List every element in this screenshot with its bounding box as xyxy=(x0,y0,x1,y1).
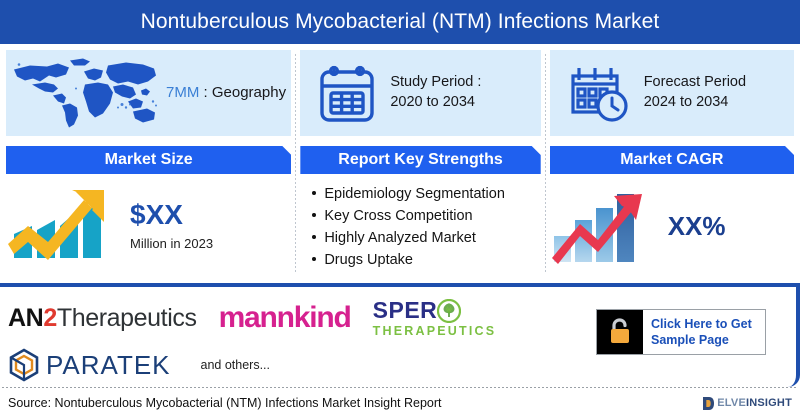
geography-tile: 7MM : Geography xyxy=(6,50,291,136)
market-size-metric: $XX Million in 2023 xyxy=(6,174,213,266)
ribbon-report-key-strengths-label: Report Key Strengths xyxy=(338,151,502,169)
brand-part2: ELVE xyxy=(717,397,746,409)
spero-top: SPER xyxy=(373,299,497,323)
column-separator-2 xyxy=(545,54,546,273)
bar-chart-up-arrow-icon xyxy=(6,186,124,266)
tree-circle-icon xyxy=(437,299,461,323)
calendar-clock-icon xyxy=(568,62,630,124)
list-item: Drugs Uptake xyxy=(324,249,505,271)
brand-part3: INSIGHT xyxy=(746,397,792,409)
delveinsight-logo: ELVEINSIGHT xyxy=(702,396,792,411)
study-period-line1: Study Period : xyxy=(390,73,481,93)
market-cagr-value: XX% xyxy=(668,213,726,239)
spero-word: SPER xyxy=(373,299,438,322)
market-size-unit: Million in 2023 xyxy=(130,236,213,251)
forecast-period-tile: Forecast Period 2024 to 2034 xyxy=(550,50,794,136)
hexagon-icon xyxy=(8,348,40,382)
study-period-line2: 2020 to 2034 xyxy=(390,93,481,113)
column-market-size: 7MM : Geography Market Size xyxy=(6,50,291,283)
ribbon-market-cagr: Market CAGR xyxy=(550,146,794,174)
company-logos-area: AN2Therapeutics mannkind SPER xyxy=(0,287,800,387)
cta-line2: Sample Page xyxy=(651,332,752,348)
market-cagr-body: XX% xyxy=(550,174,794,283)
column-report-key-strengths: Study Period : 2020 to 2034 Report Key S… xyxy=(300,50,540,283)
footer: Source: Nontuberculous Mycobacterial (NT… xyxy=(0,388,800,418)
key-strengths-list: Epidemiology Segmentation Key Cross Comp… xyxy=(308,183,505,271)
list-item: Epidemiology Segmentation xyxy=(324,183,505,205)
forecast-period-line2: 2024 to 2034 xyxy=(644,93,746,113)
bar-chart-red-arrow-icon xyxy=(550,186,662,266)
calendar-icon xyxy=(318,62,376,124)
spero-subtitle: THERAPEUTICS xyxy=(373,325,497,338)
and-others-label: and others... xyxy=(201,358,271,372)
cta-icon-box xyxy=(597,310,643,354)
geography-highlight: 7MM xyxy=(166,84,199,101)
forecast-period-text: Forecast Period 2024 to 2034 xyxy=(644,73,746,112)
page-title: Nontuberculous Mycobacterial (NTM) Infec… xyxy=(141,10,660,34)
paratek-word: PARATEK xyxy=(46,350,171,381)
report-key-strengths-body: Epidemiology Segmentation Key Cross Comp… xyxy=(300,174,540,283)
geography-label: 7MM : Geography xyxy=(166,83,286,103)
study-period-text: Study Period : 2020 to 2034 xyxy=(390,73,481,112)
column-separator-1 xyxy=(295,54,296,273)
delveinsight-wordmark: ELVEINSIGHT xyxy=(717,397,792,409)
page-header: Nontuberculous Mycobacterial (NTM) Infec… xyxy=(0,0,800,44)
ribbon-market-size: Market Size xyxy=(6,146,291,174)
market-cagr-figure: XX% xyxy=(668,213,726,239)
cta-line1: Click Here to Get xyxy=(651,316,752,332)
panel-columns: 7MM : Geography Market Size xyxy=(0,44,800,283)
an2-part2: 2 xyxy=(43,304,57,332)
an2-part1: AN xyxy=(8,304,43,332)
infographic-root: Nontuberculous Mycobacterial (NTM) Infec… xyxy=(0,0,800,420)
geography-suffix: : Geography xyxy=(199,84,286,101)
world-map-icon xyxy=(10,54,160,132)
an2-part3: Therapeutics xyxy=(57,304,197,332)
market-size-value: $XX xyxy=(130,201,213,229)
ribbon-market-cagr-label: Market CAGR xyxy=(620,151,723,169)
market-cagr-metric: XX% xyxy=(550,174,726,266)
logo-paratek: PARATEK xyxy=(8,348,171,382)
ribbon-report-key-strengths: Report Key Strengths xyxy=(300,146,540,174)
market-size-body: $XX Million in 2023 xyxy=(6,174,291,283)
logo-an2-therapeutics: AN2Therapeutics xyxy=(8,304,197,333)
delveinsight-mark-icon xyxy=(702,396,715,411)
logo-mannkind: mannkind xyxy=(219,301,351,335)
market-size-figure: $XX Million in 2023 xyxy=(130,201,213,251)
ribbon-market-size-label: Market Size xyxy=(105,151,193,169)
source-text: Source: Nontuberculous Mycobacterial (NT… xyxy=(8,396,442,410)
list-item: Highly Analyzed Market xyxy=(324,227,505,249)
logo-spero-therapeutics: SPER THERAPEUTICS xyxy=(373,299,497,338)
list-item: Key Cross Competition xyxy=(324,205,505,227)
study-period-tile: Study Period : 2020 to 2034 xyxy=(300,50,540,136)
cta-label: Click Here to Get Sample Page xyxy=(643,310,765,354)
open-padlock-icon xyxy=(607,317,633,347)
forecast-period-line1: Forecast Period xyxy=(644,73,746,93)
sample-page-button[interactable]: Click Here to Get Sample Page xyxy=(596,309,766,355)
column-market-cagr: Forecast Period 2024 to 2034 Market CAGR xyxy=(550,50,794,283)
